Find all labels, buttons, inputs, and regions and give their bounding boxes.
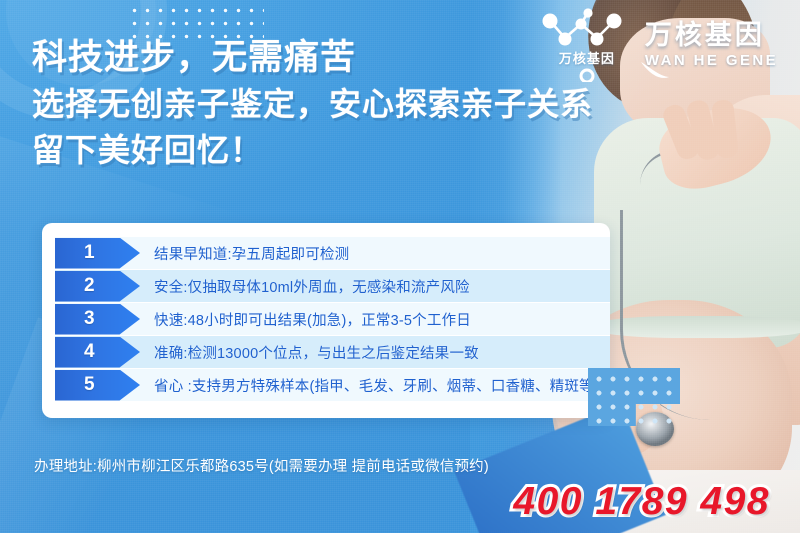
dna-molecule-icon: 万核基因 <box>535 8 639 82</box>
feature-row: 1结果早知道:孕五周起即可检测 <box>42 237 610 269</box>
feature-row-text: 安全:仅抽取母体10ml外周血，无感染和流产风险 <box>154 276 470 297</box>
feature-row-text: 准确:检测13000个位点，与出生之后鉴定结果一致 <box>154 342 479 363</box>
feature-row-text: 快速:48小时即可出结果(加急)，正常3-5个工作日 <box>154 309 471 330</box>
features-card: 1结果早知道:孕五周起即可检测2安全:仅抽取母体10ml外周血，无感染和流产风险… <box>42 223 610 418</box>
feature-row: 4准确:检测13000个位点，与出生之后鉴定结果一致 <box>42 336 610 368</box>
address-text: 办理地址:柳州市柳江区乐都路635号(如需要办理 提前电话或微信预约) <box>34 455 489 476</box>
feature-row: 3快速:48小时即可出结果(加急)，正常3-5个工作日 <box>42 303 610 335</box>
poster-canvas: 万核基因 万核基因 WAN HE GENE 科技进步，无需痛苦 选择无创亲子鉴定… <box>0 0 800 533</box>
feature-row-text: 结果早知道:孕五周起即可检测 <box>154 243 349 264</box>
feature-row: 2安全:仅抽取母体10ml外周血，无感染和流产风险 <box>42 270 610 302</box>
swoosh-icon <box>639 58 673 88</box>
logo-mark-text: 万核基因 <box>535 48 639 67</box>
brand-logo[interactable]: 万核基因 万核基因 WAN HE GENE <box>535 8 778 82</box>
feature-row: 5省心 :支持男方特殊样本(指甲、毛发、牙刷、烟蒂、口香糖、精斑等) <box>42 369 610 401</box>
feature-row-text: 省心 :支持男方特殊样本(指甲、毛发、牙刷、烟蒂、口香糖、精斑等) <box>154 375 599 396</box>
phone-number[interactable]: 400 1789 498 <box>513 480 770 524</box>
headline-line-2: 选择无创亲子鉴定，安心探索亲子关系 <box>32 88 692 121</box>
headline-line-3: 留下美好回忆！ <box>32 134 692 167</box>
brand-name-cn: 万核基因 <box>645 22 778 49</box>
features-list: 1结果早知道:孕五周起即可检测2安全:仅抽取母体10ml外周血，无感染和流产风险… <box>42 237 610 402</box>
